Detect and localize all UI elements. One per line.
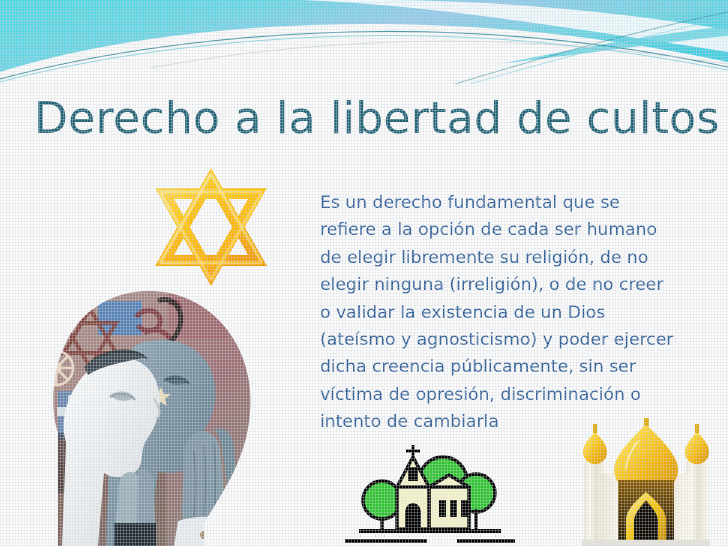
interfaith-faces-collage-image	[18, 283, 280, 546]
mosque-clipart-icon	[570, 418, 722, 546]
slide-title: Derecho a la libertad de cultos	[34, 93, 714, 144]
presentation-slide: Derecho a la libertad de cultos	[0, 0, 728, 546]
slide-body-text: Es un derecho fundamental que se refiere…	[320, 190, 678, 437]
church-clipart-icon	[345, 443, 515, 546]
star-of-david-icon	[136, 162, 286, 292]
decorative-wave-banner	[0, 0, 728, 84]
